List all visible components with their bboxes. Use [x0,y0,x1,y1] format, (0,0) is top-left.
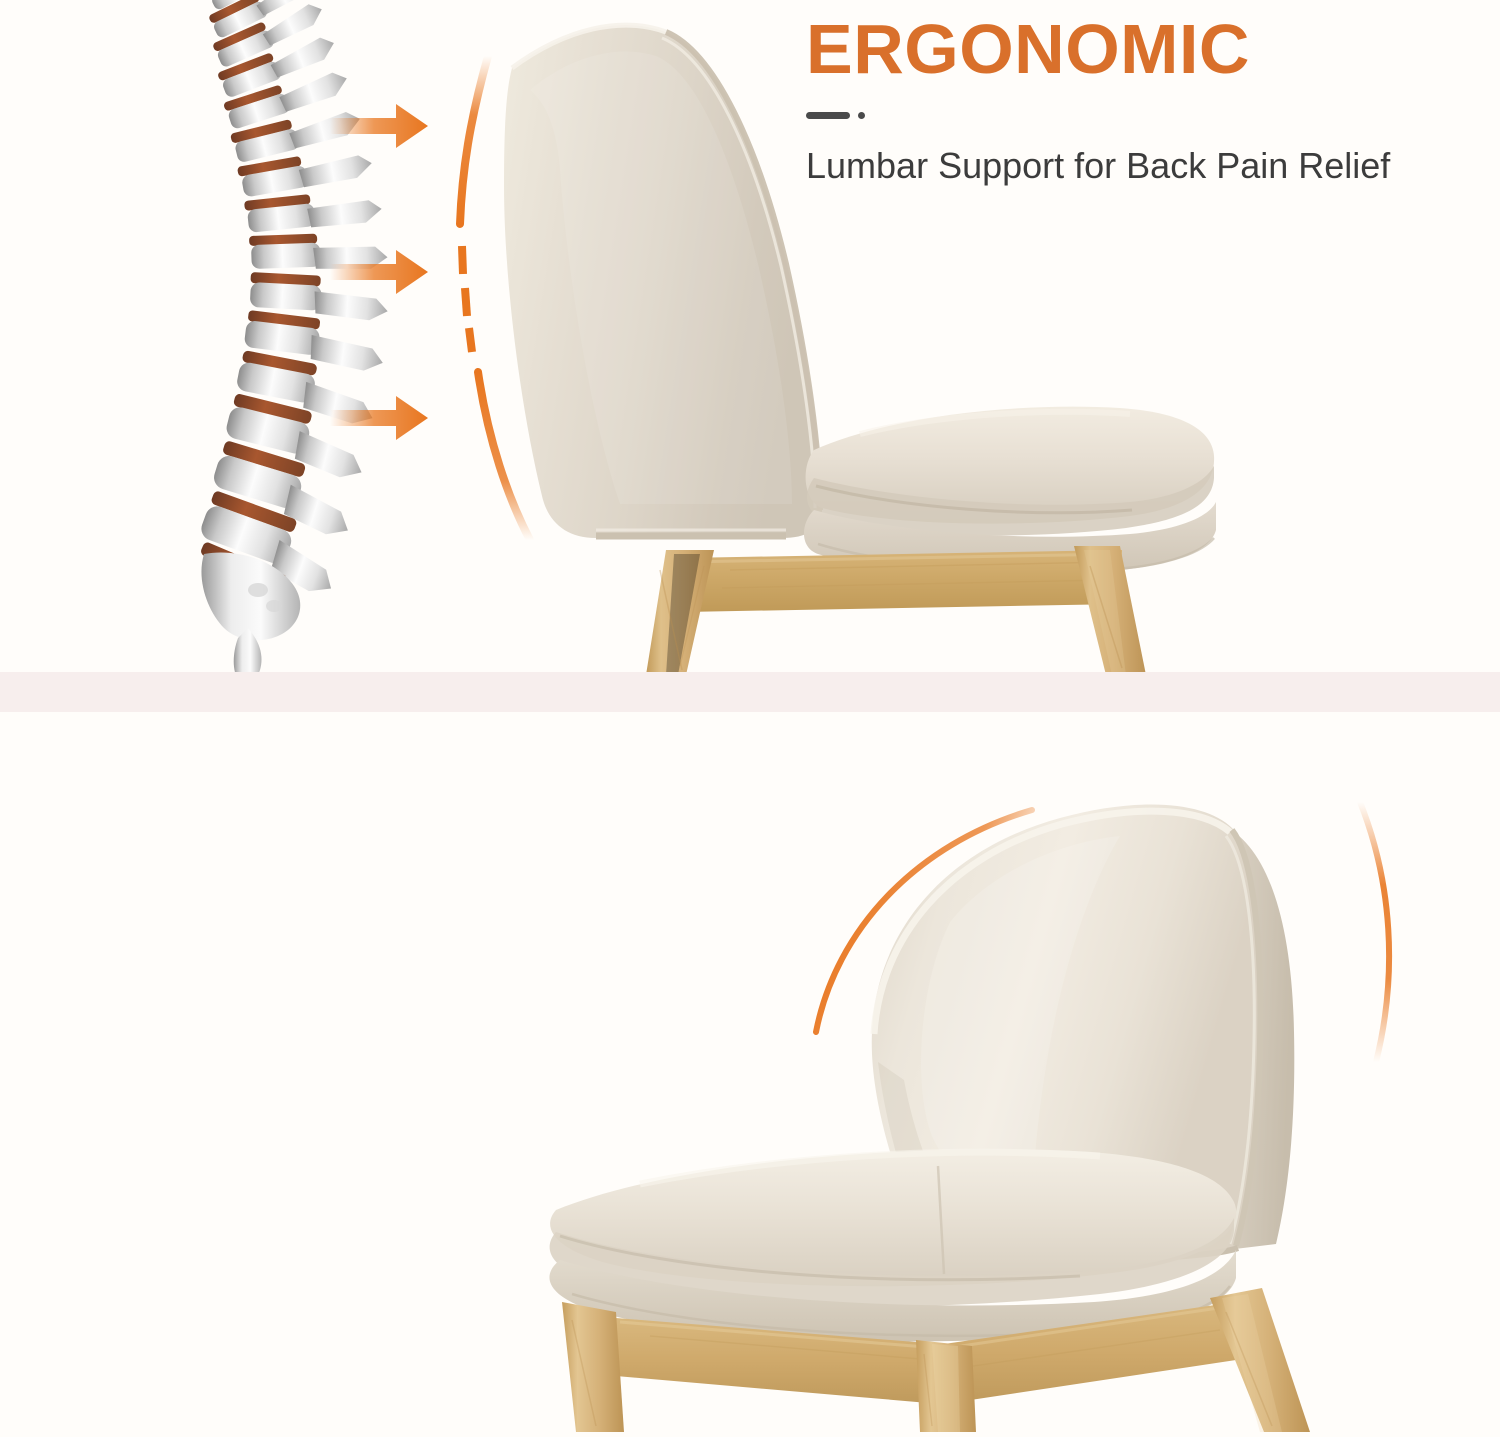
dash-dot-divider-icon [806,111,1466,121]
panel-ergonomic: ERGONOMIC Lumbar Support for Back Pain R… [0,0,1500,672]
chair-three-quarter-view-image [520,732,1500,1432]
chair-backrest [504,25,822,538]
ergonomic-text-block: ERGONOMIC Lumbar Support for Back Pain R… [806,14,1466,188]
panel-upholstered-design: UPHOLSTERED DESIGN Comfortable and Beaut… [0,712,1500,1437]
divider-dot [858,112,865,119]
divider-dash [806,112,850,119]
product-feature-infographic: ERGONOMIC Lumbar Support for Back Pain R… [0,0,1500,1437]
chair-seat-cushion [549,1150,1236,1342]
arrow-icon-middle [330,250,428,294]
ergonomic-subhead: Lumbar Support for Back Pain Relief [806,143,1466,188]
arrow-icon-upper [330,104,428,148]
accent-arc-right [1360,802,1389,1062]
chair-seat-cushion [804,407,1216,575]
ergonomic-headline: ERGONOMIC [806,14,1466,85]
arrow-icon-lower [330,396,428,440]
panel-divider-band [0,672,1500,712]
chair-wooden-legs [646,546,1146,672]
